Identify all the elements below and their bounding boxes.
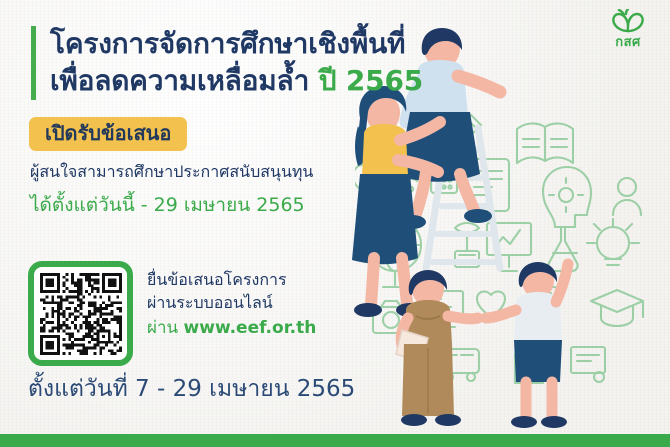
figure-boy-arm-raised xyxy=(486,262,568,428)
graduation-cap-icon xyxy=(591,290,643,326)
lightbulb-icon xyxy=(587,219,639,265)
title-line-2-main: เพื่อลดความเหลื่อมล้ำ xyxy=(50,64,309,97)
qr-instructions: ยื่นข้อเสนอโครงการ ผ่านระบบออนไลน์ ผ่าน … xyxy=(147,269,316,341)
backpack-icon xyxy=(515,343,543,383)
qr-url-line[interactable]: ผ่าน www.eef.or.th xyxy=(147,316,316,340)
calculator-icon xyxy=(431,161,457,193)
website-url[interactable]: www.eef.or.th xyxy=(184,318,317,338)
plant-icon xyxy=(455,223,479,267)
subtitle-line-2: ได้ตั้งแต่วันนี้ - 29 เมษายน 2565 xyxy=(30,190,305,220)
head-profile-icon xyxy=(543,167,591,227)
page-title: โครงการจัดการศึกษาเชิงพื้นที่ เพื่อลดควา… xyxy=(31,26,423,100)
tablet-icon xyxy=(467,159,509,211)
teacher-icon xyxy=(369,102,397,139)
person-icon-2 xyxy=(613,178,641,215)
heart-icon xyxy=(477,292,505,317)
eef-sprout-logo-icon xyxy=(608,9,648,35)
bus-icon xyxy=(439,349,479,381)
monitor-icon xyxy=(423,291,463,327)
mobile-icon xyxy=(535,287,557,323)
qr-code-image xyxy=(40,273,122,355)
title-line-1: โครงการจัดการศึกษาเชิงพื้นที่ xyxy=(50,26,423,63)
qr-line-2: ผ่านระบบออนไลน์ xyxy=(147,292,316,315)
poster-canvas: กสศ โครงการจัดการศึกษาเชิงพื้นที่ เพื่อล… xyxy=(0,0,670,447)
figure-person-with-document xyxy=(396,270,478,426)
logo-text: กสศ xyxy=(600,36,656,49)
education-icon-cloud xyxy=(355,95,655,395)
title-line-2: เพื่อลดความเหลื่อมล้ำ ปี 2565 xyxy=(50,63,423,100)
figure-girl-yellow-top xyxy=(352,86,440,317)
certificate-icon xyxy=(571,347,605,382)
camera-icon xyxy=(373,301,409,333)
school-icon xyxy=(417,101,449,141)
title-year-value: 2565 xyxy=(346,64,423,97)
subtitle-line-1: ผู้สนใจสามารถศึกษาประกาศสนับสนุนทุน xyxy=(30,160,313,185)
status-badge: เปิดรับข้อเสนอ xyxy=(29,117,187,151)
qr-line-1: ยื่นข้อเสนอโครงการ xyxy=(147,269,316,292)
qr-url-prefix: ผ่าน xyxy=(147,318,178,338)
qr-code[interactable] xyxy=(28,261,133,366)
pencil-icon xyxy=(443,115,481,153)
presentation-icon xyxy=(487,223,531,271)
footer-date-range: ตั้งแต่วันที่ 7 - 29 เมษายน 2565 xyxy=(28,371,355,407)
apple-icon xyxy=(355,157,383,189)
bottom-accent-bar xyxy=(0,434,670,447)
wifi-icon xyxy=(399,168,423,192)
ladder-graphic xyxy=(426,128,500,268)
globe-icon xyxy=(369,219,421,287)
eef-logo: กสศ xyxy=(600,9,656,49)
flask-icon xyxy=(548,227,577,271)
title-year-label: ปี xyxy=(319,64,337,97)
book-icon xyxy=(517,123,573,163)
